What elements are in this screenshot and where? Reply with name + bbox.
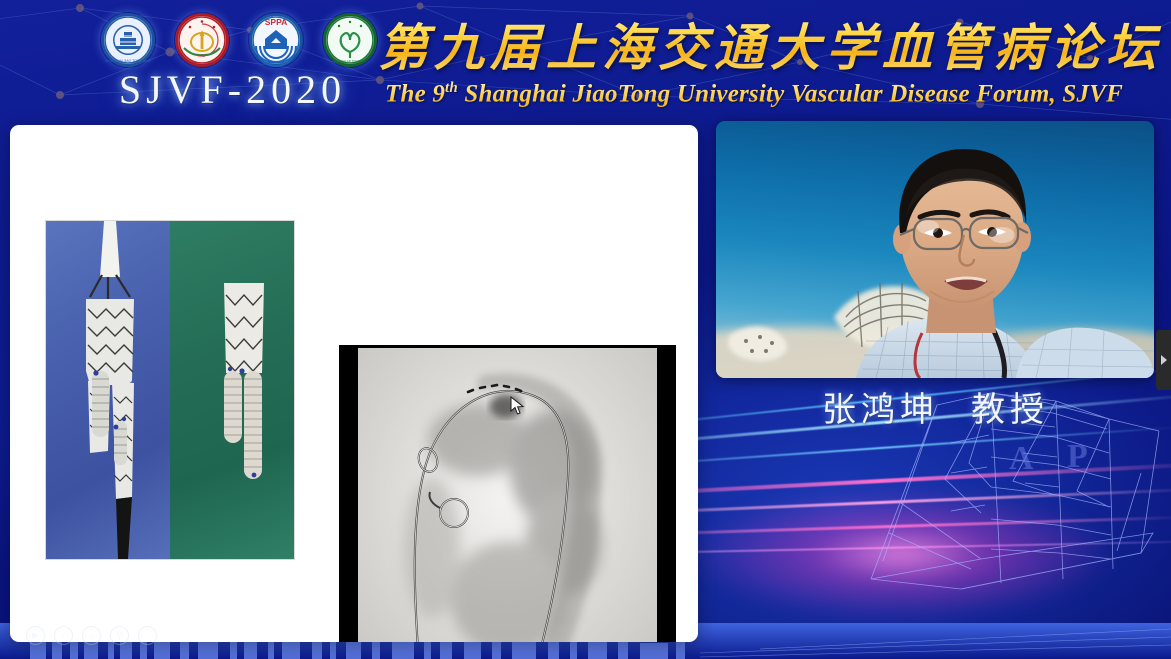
event-title-english: The 9th Shanghai JiaoTong University Vas… [385, 80, 1123, 108]
sjvf-brand-text: SJVF-2020 [100, 66, 365, 113]
stent-graft-photo [45, 220, 295, 560]
search-icon[interactable]: ⚲ [110, 626, 129, 645]
svg-text:VASCULAR SOCIETY: VASCULAR SOCIETY [335, 59, 365, 63]
minus-icon[interactable]: − [138, 626, 157, 645]
sppa-logo: SPPA [248, 12, 304, 68]
stent-on-green-drape [170, 221, 294, 559]
webinar-screen: A P [0, 0, 1171, 659]
speaker-name: 张鸿坤 [822, 382, 939, 431]
presentation-slide[interactable] [10, 125, 698, 642]
vascular-society-logo: VASCULAR SOCIETY [322, 12, 378, 68]
home-icon[interactable]: ⌂ [82, 626, 101, 645]
angiogram-video-player[interactable] [339, 345, 676, 642]
slide-toolbar[interactable]: ▶ ∕ ⌂ ⚲ − [26, 626, 157, 645]
speaker-title: 教授 [971, 382, 1049, 431]
event-header: SHANGHAI JIAO TONG UNIV CACP [0, 0, 1171, 120]
speaker-nameplate: 张鸿坤 教授 [700, 383, 1171, 429]
ship-label-p: P [1067, 438, 1088, 475]
chevron-right-icon [1160, 354, 1168, 366]
svg-text:SPPA: SPPA [265, 17, 288, 27]
angiogram-frame [358, 348, 657, 642]
speaker-webcam[interactable] [716, 121, 1154, 378]
play-icon[interactable]: ▶ [26, 626, 45, 645]
svg-text:CACP: CACP [198, 54, 207, 58]
pen-icon[interactable]: ∕ [54, 626, 73, 645]
speaker-portrait [716, 121, 1154, 378]
panel-expand-tab[interactable] [1156, 330, 1171, 390]
title-en-sup: th [445, 80, 458, 96]
svg-text:SHANGHAI JIAO TONG UNIV: SHANGHAI JIAO TONG UNIV [105, 59, 152, 63]
title-en-rest: Shanghai JiaoTong University Vascular Di… [458, 80, 1123, 107]
ship-label-a: A [1009, 440, 1034, 477]
medical-association-logo: CACP [174, 12, 230, 68]
title-en-prefix: The 9 [385, 80, 445, 107]
event-title-chinese: 第九届上海交通大学血管病论坛 [378, 8, 1162, 80]
shanghai-jiaotong-university-logo: SHANGHAI JIAO TONG UNIV [100, 12, 156, 68]
organizer-logos: SHANGHAI JIAO TONG UNIV CACP [100, 12, 378, 68]
aorta-angiogram-image [358, 348, 657, 642]
stent-on-blue-drape [46, 221, 170, 559]
